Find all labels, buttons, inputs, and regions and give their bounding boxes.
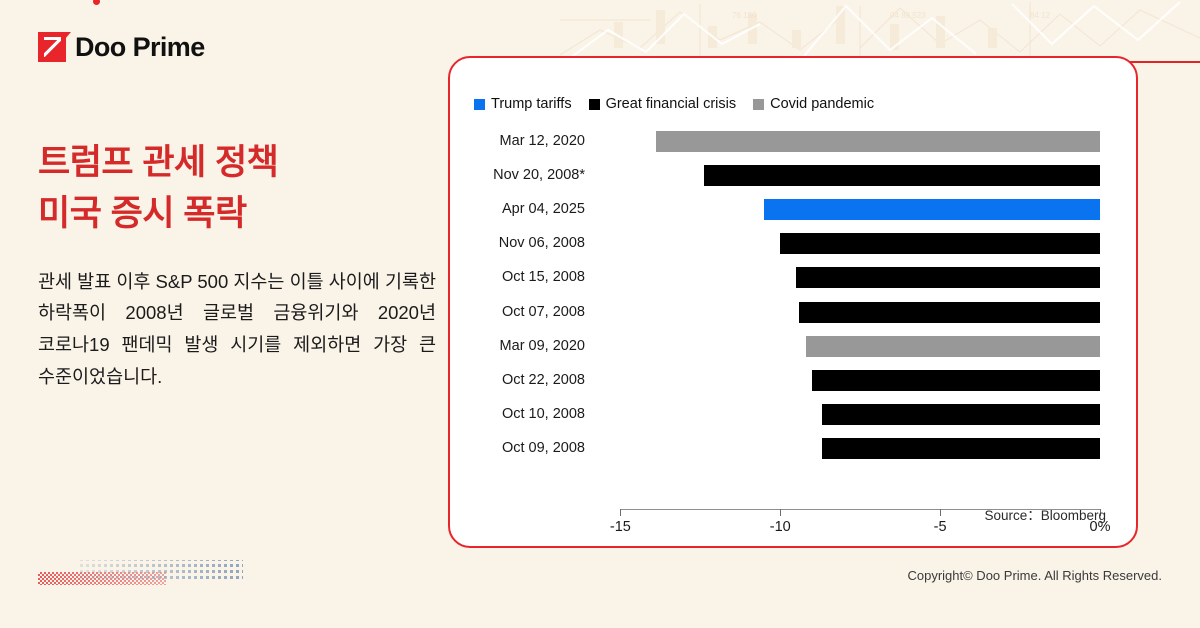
- bar-great-financial-crisis[interactable]: [822, 404, 1100, 425]
- bar-great-financial-crisis[interactable]: [812, 370, 1100, 391]
- bar-category-label: Nov 20, 2008*: [450, 158, 585, 192]
- bar-category-label: Oct 07, 2008: [450, 295, 585, 329]
- bar-trump-tariffs[interactable]: [764, 199, 1100, 220]
- brand-logo[interactable]: Doo Prime: [38, 30, 440, 64]
- legend-swatch-icon: [589, 99, 600, 110]
- bar-chart-plot: Mar 12, 2020Nov 20, 2008*Apr 04, 2025Nov…: [450, 120, 1138, 512]
- svg-text:76 180: 76 180: [732, 11, 757, 20]
- headline-line-1: 트럼프 관세 정책: [38, 138, 440, 189]
- x-axis-tick: [620, 509, 621, 516]
- background-chart-watermark: 76 180 04 88 523 84 12: [560, 0, 1200, 62]
- bar-row[interactable]: Nov 20, 2008*: [450, 158, 1138, 192]
- legend-label: Great financial crisis: [606, 96, 737, 112]
- legend-swatch-icon: [474, 99, 485, 110]
- bar-row[interactable]: Apr 04, 2025: [450, 192, 1138, 226]
- legend-label: Covid pandemic: [770, 96, 874, 112]
- x-axis-tick: [780, 509, 781, 516]
- legend-label: Trump tariffs: [491, 96, 572, 112]
- bar-category-label: Mar 12, 2020: [450, 124, 585, 158]
- bar-covid-pandemic[interactable]: [656, 131, 1100, 152]
- headline-line-2: 미국 증시 폭락: [38, 189, 440, 240]
- brand-dot-icon: [93, 0, 100, 5]
- bar-great-financial-crisis[interactable]: [780, 233, 1100, 254]
- chart-inner: Trump tariffsGreat financial crisisCovid…: [450, 58, 1136, 546]
- chart-card: Trump tariffsGreat financial crisisCovid…: [448, 56, 1138, 548]
- bar-row[interactable]: Oct 09, 2008: [450, 431, 1138, 465]
- bar-row[interactable]: Oct 15, 2008: [450, 260, 1138, 294]
- doo-prime-mark-icon: [38, 32, 66, 62]
- svg-text:84 12: 84 12: [1030, 11, 1051, 20]
- x-axis-tick-label: -5: [934, 519, 947, 535]
- bar-row[interactable]: Mar 09, 2020: [450, 329, 1138, 363]
- left-content-panel: Doo Prime 트럼프 관세 정책 미국 증시 폭락 관세 발표 이후 S&…: [0, 0, 440, 628]
- bar-row[interactable]: Oct 22, 2008: [450, 363, 1138, 397]
- bar-category-label: Oct 10, 2008: [450, 397, 585, 431]
- chart-legend: Trump tariffsGreat financial crisisCovid…: [474, 96, 874, 112]
- bar-great-financial-crisis[interactable]: [822, 438, 1100, 459]
- bar-great-financial-crisis[interactable]: [704, 165, 1100, 186]
- body-copy: 관세 발표 이후 S&P 500 지수는 이틀 사이에 기록한 하락폭이 200…: [38, 266, 436, 393]
- bar-great-financial-crisis[interactable]: [799, 302, 1100, 323]
- x-axis-tick-label: -15: [610, 519, 631, 535]
- bar-category-label: Oct 09, 2008: [450, 431, 585, 465]
- x-axis-tick: [940, 509, 941, 516]
- bar-category-label: Oct 22, 2008: [450, 363, 585, 397]
- copyright-notice: Copyright© Doo Prime. All Rights Reserve…: [907, 568, 1162, 583]
- x-axis-tick-label: -10: [770, 519, 791, 535]
- bar-category-label: Apr 04, 2025: [450, 192, 585, 226]
- bar-category-label: Oct 15, 2008: [450, 260, 585, 294]
- legend-item-covid-pandemic[interactable]: Covid pandemic: [753, 96, 874, 112]
- bar-row[interactable]: Nov 06, 2008: [450, 226, 1138, 260]
- legend-item-great-financial-crisis[interactable]: Great financial crisis: [589, 96, 737, 112]
- bar-great-financial-crisis[interactable]: [796, 267, 1100, 288]
- bar-row[interactable]: Oct 10, 2008: [450, 397, 1138, 431]
- legend-swatch-icon: [753, 99, 764, 110]
- source-note: Source：Bloomberg: [984, 504, 1106, 524]
- bar-row[interactable]: Oct 07, 2008: [450, 295, 1138, 329]
- bar-category-label: Mar 09, 2020: [450, 329, 585, 363]
- bar-category-label: Nov 06, 2008: [450, 226, 585, 260]
- brand-name: Doo Prime: [75, 32, 205, 63]
- bar-row[interactable]: Mar 12, 2020: [450, 124, 1138, 158]
- legend-item-trump-tariffs[interactable]: Trump tariffs: [474, 96, 572, 112]
- bar-covid-pandemic[interactable]: [806, 336, 1100, 357]
- svg-text:04 88 523: 04 88 523: [890, 11, 926, 20]
- page-title: 트럼프 관세 정책 미국 증시 폭락: [38, 138, 440, 240]
